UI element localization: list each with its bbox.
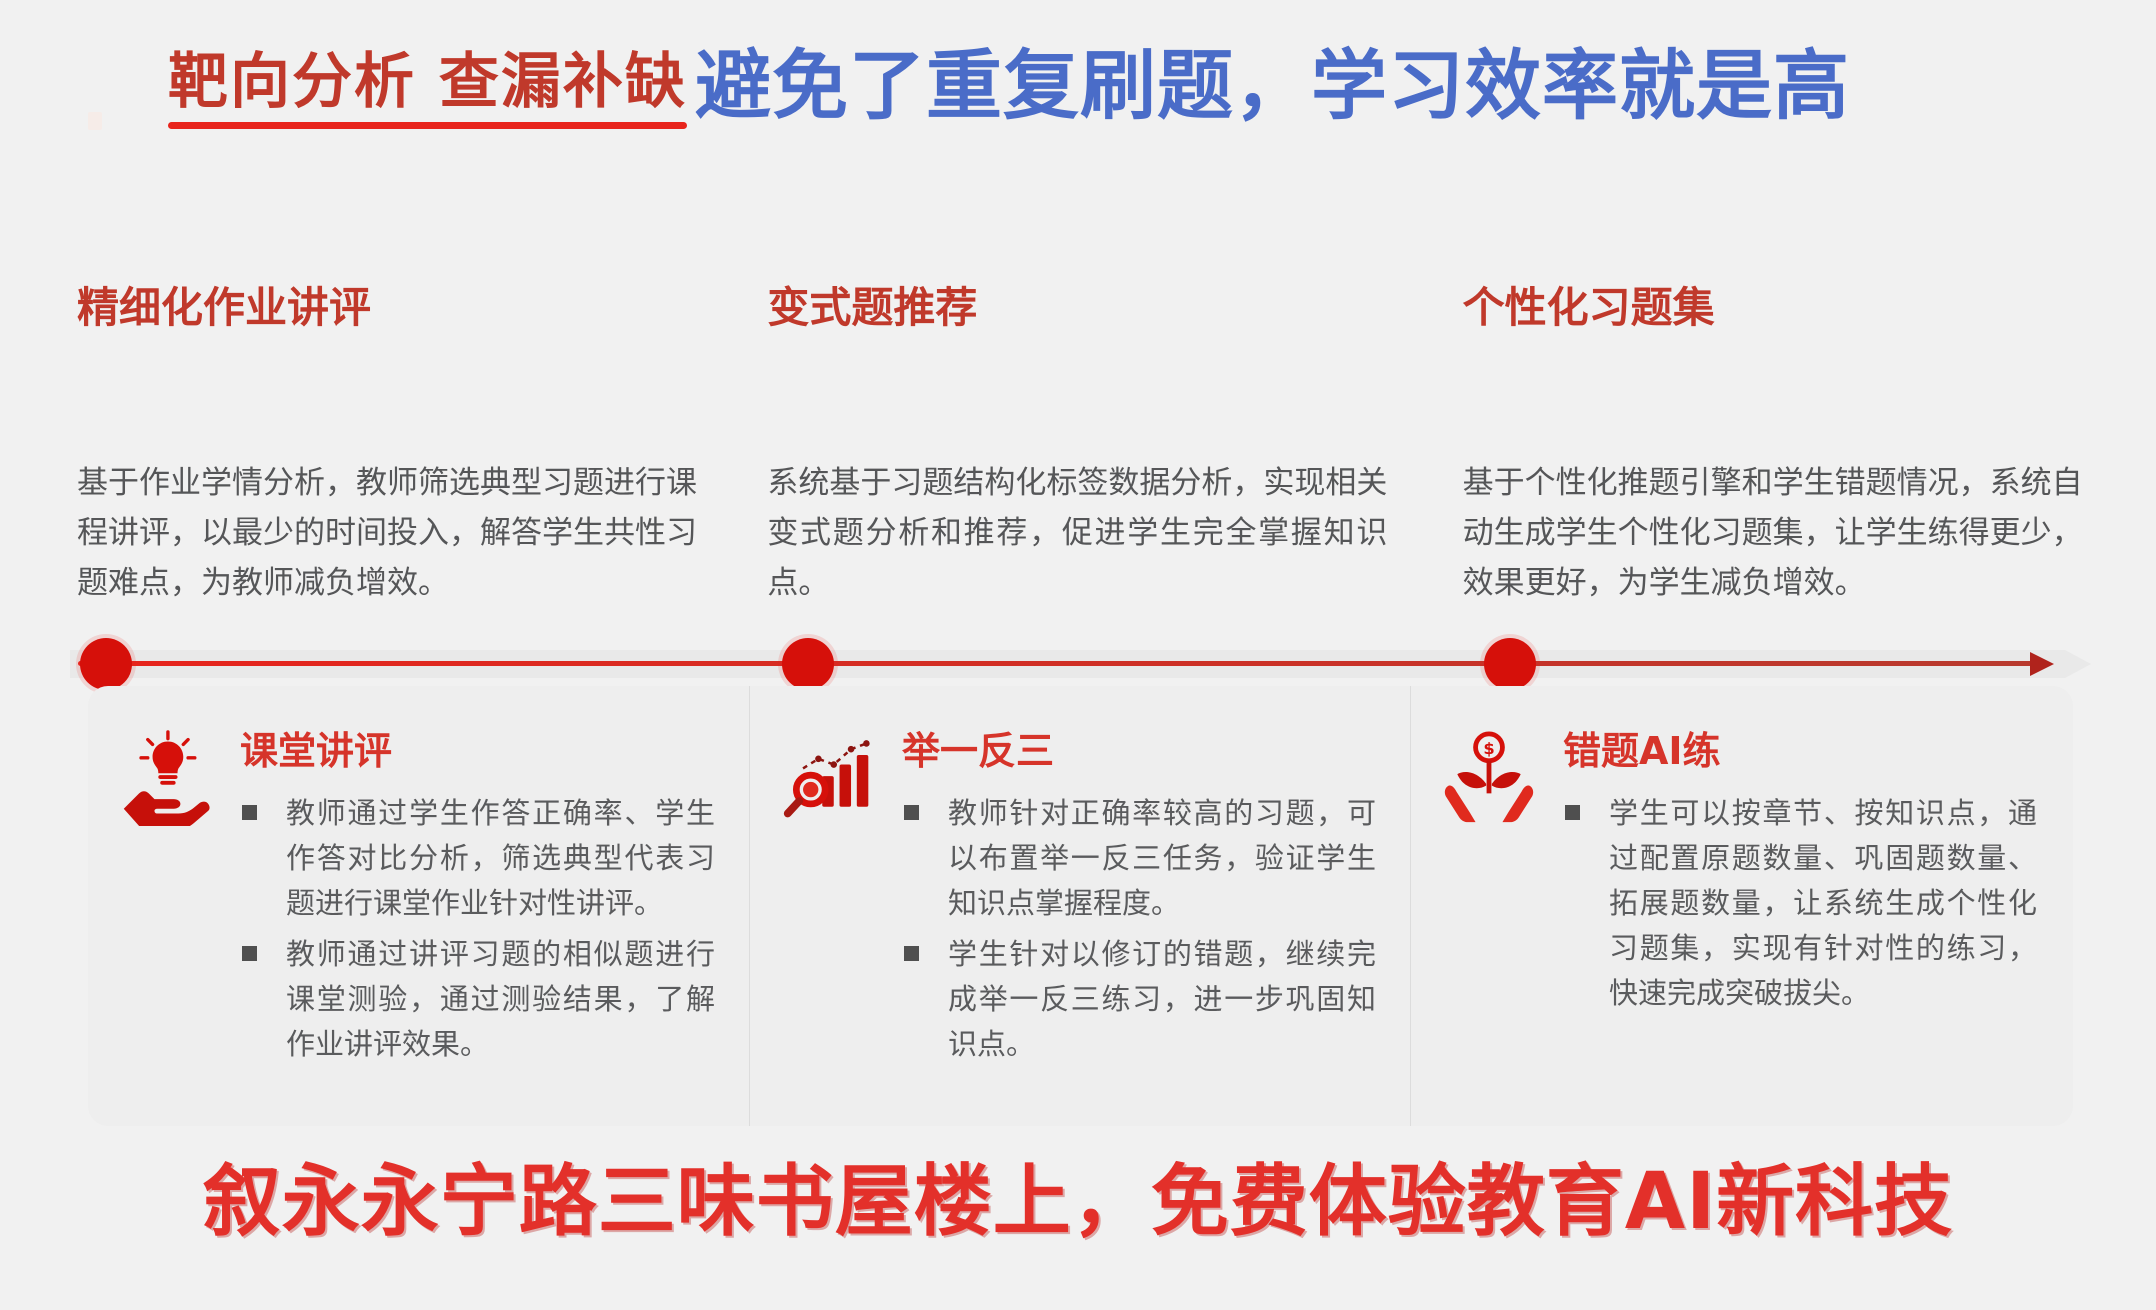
hands-holding-plant-coin-icon: $ <box>1441 730 1537 826</box>
timeline-step-3: 个性化习题集 基于个性化推题引擎和学生错题情况，系统自动生成学生个性化习题集，让… <box>1461 250 2156 650</box>
list-item: 学生针对以修订的错题，继续完成举一反三练习，进一步巩固知识点。 <box>896 932 1376 1067</box>
hand-holding-lightbulb-icon <box>118 730 214 826</box>
list-item: 学生可以按章节、按知识点，通过配置原题数量、巩固题数量、拓展题数量，让系统生成个… <box>1557 791 2037 1016</box>
list-item: 教师针对正确率较高的习题，可以布置举一反三任务，验证学生知识点掌握程度。 <box>896 791 1376 926</box>
timeline-step-desc: 系统基于习题结构化标签数据分析，实现相关变式题分析和推荐，促进学生完全掌握知识点… <box>767 458 1387 609</box>
decorative-mark <box>88 112 102 130</box>
list-item: 教师通过讲评习题的相似题进行课堂测验，通过测验结果，了解作业讲评效果。 <box>234 932 715 1067</box>
timeline-step-2: 变式题推荐 系统基于习题结构化标签数据分析，实现相关变式题分析和推荐，促进学生完… <box>765 250 1460 650</box>
promo-banner-text: 叙永永宁路三味书屋楼上，免费体验教育AI新科技 <box>203 1163 1953 1241</box>
page-title: 避免了重复刷题，学习效率就是高 <box>695 48 1850 124</box>
timeline-section: 精细化作业讲评 基于作业学情分析，教师筛选典型习题进行课程讲评，以最少的时间投入… <box>0 250 2156 650</box>
feature-card-bullets: 教师通过学生作答正确率、学生作答对比分析，筛选典型代表习题进行课堂作业针对性讲评… <box>218 791 715 1067</box>
feature-card-2: 举一反三 教师针对正确率较高的习题，可以布置举一反三任务，验证学生知识点掌握程度… <box>749 686 1410 1126</box>
timeline-step-title: 个性化习题集 <box>1463 274 1715 335</box>
timeline-dot-1 <box>80 638 132 690</box>
timeline-step-title: 变式题推荐 <box>767 274 977 335</box>
section-tag: 靶向分析 查漏补缺 <box>168 52 687 129</box>
timeline-step-desc: 基于作业学情分析，教师筛选典型习题进行课程讲评，以最少的时间投入，解答学生共性习… <box>77 458 697 609</box>
feature-card-bullets: 教师针对正确率较高的习题，可以布置举一反三任务，验证学生知识点掌握程度。 学生针… <box>880 791 1376 1067</box>
timeline-step-desc: 基于个性化推题引擎和学生错题情况，系统自动生成学生个性化习题集，让学生练得更少，… <box>1463 458 2083 609</box>
timeline-rail-line <box>78 661 2035 666</box>
section-tag-label: 靶向分析 查漏补缺 <box>168 52 687 112</box>
feature-card-title: 错题AI练 <box>1563 720 2037 775</box>
magnifier-bar-chart-icon <box>780 730 876 826</box>
timeline-step-title: 精细化作业讲评 <box>77 274 371 335</box>
slide-root: 靶向分析 查漏补缺 避免了重复刷题，学习效率就是高 精细化作业讲评 基于作业学情… <box>0 0 2156 1310</box>
feature-card-title: 课堂讲评 <box>240 720 715 775</box>
feature-card-body: 举一反三 教师针对正确率较高的习题，可以布置举一反三任务，验证学生知识点掌握程度… <box>880 714 1376 1106</box>
timeline-dot-3 <box>1484 638 1536 690</box>
feature-card-3: $ 错题AI练 学生可以按章节、按知识点，通过配置原题数量、巩固题数量、拓展题数… <box>1410 686 2071 1126</box>
feature-card-body: 课堂讲评 教师通过学生作答正确率、学生作答对比分析，筛选典型代表习题进行课堂作业… <box>218 714 715 1106</box>
feature-card-bullets: 学生可以按章节、按知识点，通过配置原题数量、巩固题数量、拓展题数量，让系统生成个… <box>1541 791 2037 1016</box>
feature-card-1: 课堂讲评 教师通过学生作答正确率、学生作答对比分析，筛选典型代表习题进行课堂作业… <box>88 686 749 1126</box>
timeline-rail <box>0 634 2156 694</box>
feature-card-title: 举一反三 <box>902 720 1376 775</box>
list-item: 教师通过学生作答正确率、学生作答对比分析，筛选典型代表习题进行课堂作业针对性讲评… <box>234 791 715 926</box>
section-tag-underline <box>168 122 687 129</box>
svg-text:$: $ <box>1483 739 1494 758</box>
timeline-dot-2 <box>782 638 834 690</box>
timeline-arrow-icon <box>2030 652 2054 676</box>
promo-banner: 叙永永宁路三味书屋楼上，免费体验教育AI新科技 <box>0 1132 2156 1272</box>
feature-card-body: 错题AI练 学生可以按章节、按知识点，通过配置原题数量、巩固题数量、拓展题数量，… <box>1541 714 2037 1106</box>
feature-card-panel: 课堂讲评 教师通过学生作答正确率、学生作答对比分析，筛选典型代表习题进行课堂作业… <box>88 686 2073 1126</box>
timeline-step-1: 精细化作业讲评 基于作业学情分析，教师筛选典型习题进行课程讲评，以最少的时间投入… <box>75 250 770 650</box>
timeline-columns: 精细化作业讲评 基于作业学情分析，教师筛选典型习题进行课程讲评，以最少的时间投入… <box>0 250 2156 650</box>
